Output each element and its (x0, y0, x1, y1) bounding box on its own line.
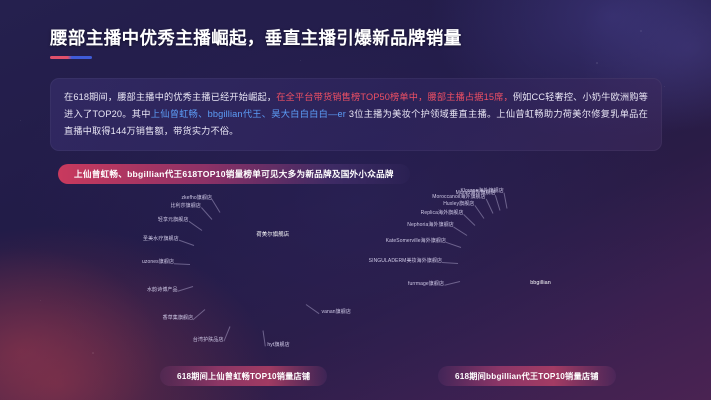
header: 腰部主播中优秀主播崛起，垂直主播引爆新品牌销量 (50, 25, 462, 59)
pie-chart-right: bbgillianfurrmage旗舰店SINGULADERM美妆海外旗舰店Ka… (358, 185, 648, 360)
pie-slice-label: SINGULADERM美妆海外旗舰店 (358, 259, 442, 264)
decorative-sparkle (20, 120, 21, 121)
pie-slice-label: KateSomerville海外旗舰店 (358, 239, 446, 244)
pie-slice-label: Huxley旗舰店 (358, 202, 474, 207)
summary-paragraph: 在618期间，腰部主播中的优秀主播已经开始崛起，在全平台带货销售榜TOP50榜单… (64, 89, 648, 140)
pie-leader-line (442, 262, 458, 264)
pie-slice-label: 台湾护肤品店 (78, 338, 224, 343)
decorative-sparkle (300, 60, 301, 61)
pie-right-wrap (458, 207, 578, 327)
pie-slice-label: bbgillian (530, 281, 551, 286)
pie-slice-label: Klorane海外旗舰店 (358, 189, 504, 194)
para-segment-1: 在618期间，腰部主播中的优秀主播已经开始崛起， (64, 92, 276, 102)
pie-slice-label: furrmage旗舰店 (358, 282, 444, 287)
chart-left-caption: 618期间上仙曾虹畅TOP10销量店铺 (160, 366, 327, 386)
pie-leader-line (263, 331, 266, 347)
insight-badge: 上仙曾虹畅、bbgillian代王618TOP10销量榜单可见大多为新品牌及国外… (58, 164, 410, 184)
decorative-sparkle (640, 30, 642, 32)
page-title: 腰部主播中优秀主播崛起，垂直主播引爆新品牌销量 (50, 25, 462, 50)
pie-chart-left: 荷美尔旗舰店vanan旗舰店hyt旗舰店台湾护肤品店香草集旗舰店水韵诗博产品uz… (78, 185, 368, 360)
para-highlight-3: 上仙曾虹畅、bbgillian代王、昊大白白白白—er (151, 109, 346, 119)
pie-slice-label: vanan旗舰店 (322, 310, 351, 315)
pie-left-wrap (190, 203, 318, 331)
pie-slice-label: 比利莎旗舰店 (78, 204, 201, 209)
pie-slice-label: 圣美水疗旗舰店 (78, 237, 179, 242)
pie-leader-line (174, 263, 190, 265)
para-highlight-1: 在全平台带货销售榜TOP50榜单中， (276, 92, 427, 102)
pie-slice-label: 香草集旗舰店 (78, 316, 193, 321)
pie-slice-label: uzones旗舰店 (78, 260, 174, 265)
pie-slice-label: 轻享元旗舰店 (78, 218, 188, 223)
title-accent-bar (50, 56, 92, 59)
pie-slice-label: 水韵诗博产品 (78, 288, 178, 293)
pie-slice-label: Replica海外旗舰店 (358, 211, 464, 216)
slide-canvas: 腰部主播中优秀主播崛起，垂直主播引爆新品牌销量 在618期间，腰部主播中的优秀主… (0, 0, 711, 400)
pie-slice-label: Nephoria海外旗舰店 (358, 223, 454, 228)
decorative-sparkle (596, 62, 598, 64)
para-highlight-2: 腰部主播占据15席， (427, 92, 512, 102)
pie-slice-label: hyt旗舰店 (267, 343, 289, 348)
pie-slice-label: 荷美尔旗舰店 (256, 233, 289, 238)
summary-card: 在618期间，腰部主播中的优秀主播已经开始崛起，在全平台带货销售榜TOP50榜单… (50, 78, 662, 151)
chart-right-caption: 618期间bbgillian代王TOP10销量店铺 (438, 366, 616, 386)
decorative-sparkle (664, 86, 665, 87)
pie-slice-label: zkefho旗舰店 (78, 196, 212, 201)
charts-region: 荷美尔旗舰店vanan旗舰店hyt旗舰店台湾护肤品店香草集旗舰店水韵诗博产品uz… (0, 185, 711, 360)
